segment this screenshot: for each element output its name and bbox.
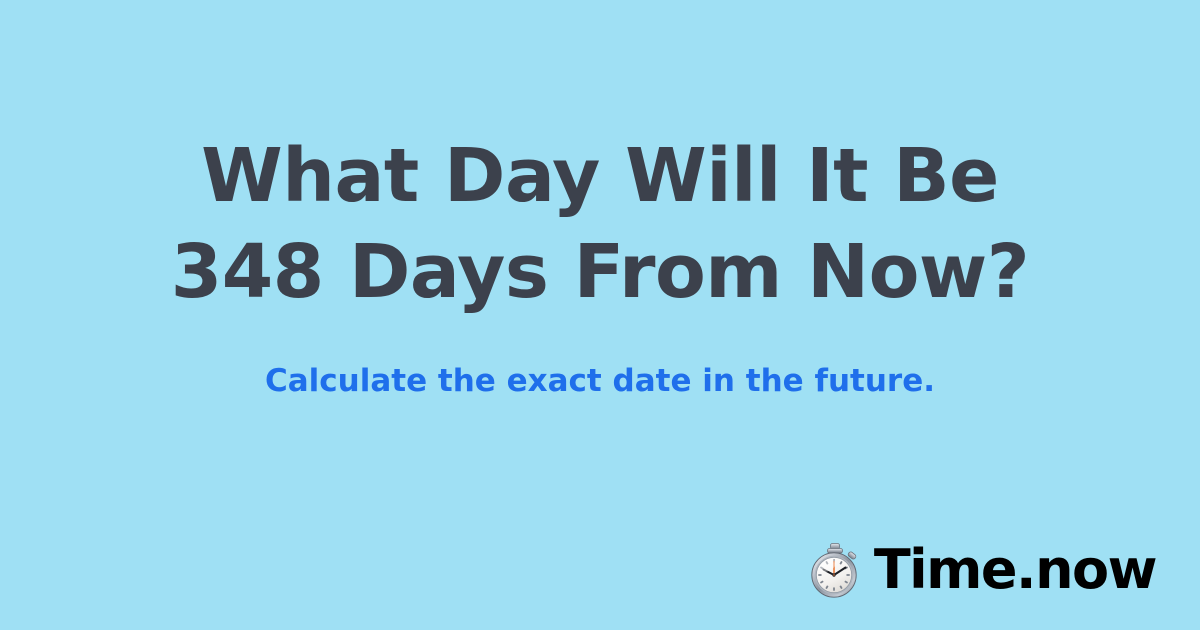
page-title: What Day Will It Be 348 Days From Now? bbox=[0, 128, 1200, 320]
page-title-line-1: What Day Will It Be bbox=[0, 128, 1200, 224]
hero-text-block: What Day Will It Be 348 Days From Now? C… bbox=[0, 128, 1200, 400]
brand-logo[interactable]: Time.now bbox=[808, 542, 1156, 598]
brand-name: Time.now bbox=[874, 542, 1156, 598]
social-card: What Day Will It Be 348 Days From Now? C… bbox=[0, 0, 1200, 630]
page-title-line-2: 348 Days From Now? bbox=[0, 224, 1200, 320]
stopwatch-icon bbox=[808, 542, 862, 598]
page-subtitle: Calculate the exact date in the future. bbox=[0, 362, 1200, 400]
